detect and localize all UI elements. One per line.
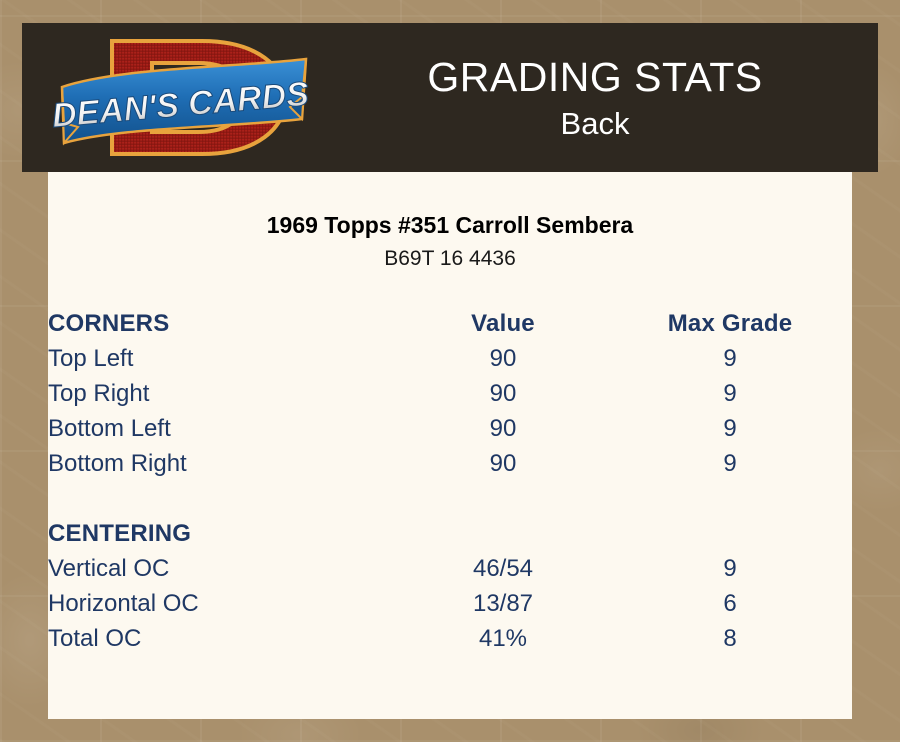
row-grade: 9	[608, 551, 852, 586]
section-title-corners: CORNERS	[48, 306, 398, 341]
table-row: Total OC 41% 8	[48, 621, 852, 656]
header-bar: DEAN'S CARDS GRADING STATS Back	[22, 23, 878, 172]
grading-stats-table: CORNERS Value Max Grade Top Left 90 9 To…	[48, 306, 852, 656]
section-header-centering: CENTERING	[48, 516, 852, 551]
row-grade: 8	[608, 621, 852, 656]
table-row: Bottom Right 90 9	[48, 446, 852, 481]
row-grade: 9	[608, 411, 852, 446]
row-label: Total OC	[48, 621, 398, 656]
logo-svg: DEAN'S CARDS	[52, 31, 317, 164]
table-row: Bottom Left 90 9	[48, 411, 852, 446]
table-row: Top Left 90 9	[48, 341, 852, 376]
section-title-centering: CENTERING	[48, 516, 398, 551]
section-header-corners: CORNERS Value Max Grade	[48, 306, 852, 341]
stats-body: CORNERS Value Max Grade Top Left 90 9 To…	[48, 306, 852, 656]
table-row: Horizontal OC 13/87 6	[48, 586, 852, 621]
row-label: Horizontal OC	[48, 586, 398, 621]
row-grade: 6	[608, 586, 852, 621]
card-serial: B69T 16 4436	[48, 246, 852, 272]
row-grade: 9	[608, 446, 852, 481]
row-label: Vertical OC	[48, 551, 398, 586]
row-label: Top Right	[48, 376, 398, 411]
row-label: Bottom Left	[48, 411, 398, 446]
column-header-value: Value	[398, 306, 608, 341]
row-grade: 9	[608, 341, 852, 376]
row-value: 13/87	[398, 586, 608, 621]
row-grade: 9	[608, 376, 852, 411]
row-label: Bottom Right	[48, 446, 398, 481]
page-title: GRADING STATS	[427, 52, 762, 102]
page-subtitle: Back	[561, 104, 630, 144]
header-title-block: GRADING STATS Back	[322, 23, 868, 172]
row-value: 41%	[398, 621, 608, 656]
stats-panel: 1969 Topps #351 Carroll Sembera B69T 16 …	[48, 172, 852, 719]
table-row: Vertical OC 46/54 9	[48, 551, 852, 586]
row-value: 90	[398, 376, 608, 411]
row-value: 90	[398, 341, 608, 376]
section-spacer	[48, 481, 852, 516]
row-value: 90	[398, 446, 608, 481]
row-label: Top Left	[48, 341, 398, 376]
deans-cards-logo: DEAN'S CARDS	[52, 31, 317, 164]
table-row: Top Right 90 9	[48, 376, 852, 411]
row-value: 46/54	[398, 551, 608, 586]
row-value: 90	[398, 411, 608, 446]
column-header-max-grade: Max Grade	[608, 306, 852, 341]
card-title: 1969 Topps #351 Carroll Sembera	[48, 211, 852, 239]
